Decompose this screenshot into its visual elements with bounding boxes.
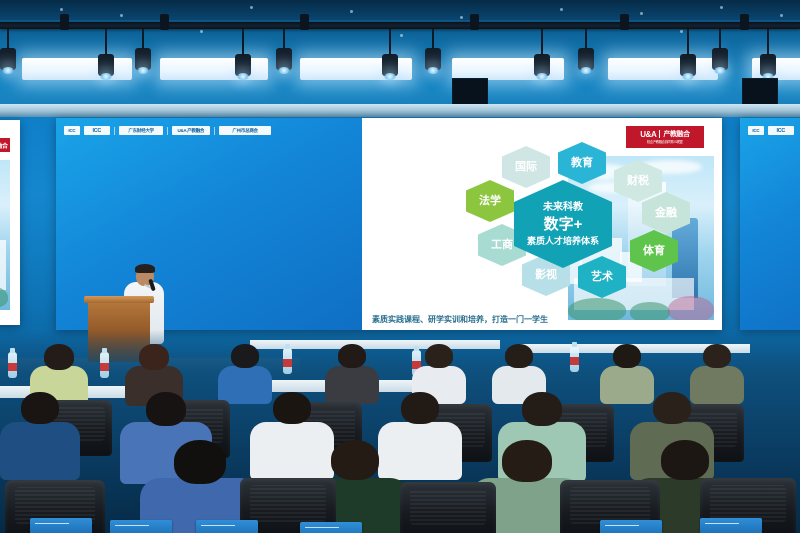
audience-body-r2-6 — [0, 422, 80, 480]
audience-body-r1-8 — [690, 366, 744, 404]
ceiling-speck-1 — [60, 8, 63, 11]
chamber-logo: 广州市总商会 — [219, 126, 271, 135]
audience-head-r1-3 — [231, 344, 259, 368]
audience-head-r2-2 — [273, 392, 311, 424]
bottle-label — [570, 357, 579, 365]
audience-head-r3-3 — [502, 440, 552, 482]
ceiling-dark-band — [0, 0, 800, 20]
light-drop-10 — [687, 29, 689, 55]
hex-node-label: 金融 — [655, 207, 677, 220]
logo-divider — [114, 127, 115, 135]
conference-folder-6[interactable] — [700, 518, 762, 533]
center-line-1: 未来科教 — [543, 201, 583, 215]
slide-body-text: 素质实践课程、研学实训和培养，打造一门一学生 — [372, 314, 548, 325]
presenter-hair — [135, 264, 155, 273]
hex-node-label: 工商 — [491, 239, 513, 252]
ceiling-speck-7 — [640, 12, 643, 15]
spotlight-1 — [0, 48, 16, 70]
water-bottle-1 — [8, 352, 17, 378]
panel-light-5 — [608, 58, 718, 80]
light-drop-5 — [283, 29, 285, 49]
truss-joint-6 — [740, 14, 749, 30]
light-drop-11 — [719, 29, 721, 49]
spotlight-3 — [135, 48, 151, 70]
audience-body-r1-4 — [325, 366, 379, 404]
audience-head-r1-7 — [613, 344, 641, 368]
hex-node-label: 艺术 — [591, 271, 613, 284]
light-drop-6 — [389, 29, 391, 55]
audience-head-r2-3 — [401, 392, 439, 424]
partner-logo-bar-right: ICC ICC — [748, 126, 794, 135]
center-line-3: 素质人才培养体系 — [527, 235, 599, 247]
audience-body-r1-3 — [218, 366, 272, 404]
audience-body-r1-7 — [600, 366, 654, 404]
audience-head-r2-5 — [653, 392, 691, 424]
ceiling-speck-9 — [780, 14, 783, 17]
truss-joint-5 — [620, 14, 629, 30]
conference-hall-photo: U&A 产教融合 ICC ICC — [0, 0, 800, 533]
center-line-2: 数字+ — [544, 215, 583, 235]
audience-head-r2-6 — [21, 392, 59, 424]
truss-joint-2 — [160, 14, 169, 30]
bottle-label — [100, 363, 109, 371]
icc-logo: ICC — [84, 126, 110, 135]
ceiling-speck-11 — [400, 34, 403, 37]
water-bottle-5 — [570, 346, 579, 372]
ceiling-speck-4 — [350, 10, 353, 13]
partner-logo-bar: ICC ICC 广东财经大学 U&A 产教融合 广州市总商会 — [64, 126, 271, 135]
ceiling-speck-6 — [560, 8, 563, 11]
audience-head-r1-5 — [425, 344, 453, 368]
audience-head-r3-1 — [174, 440, 226, 484]
light-drop-3 — [142, 29, 144, 49]
conference-folder-1[interactable] — [30, 518, 92, 533]
light-drop-9 — [585, 29, 587, 49]
audience-head-r3-2 — [331, 440, 379, 480]
light-drop-7 — [432, 29, 434, 49]
light-drop-1 — [7, 29, 9, 49]
chair-r3-3[interactable] — [400, 482, 496, 533]
water-bottle-3 — [283, 348, 292, 374]
logo-divider-2 — [167, 127, 168, 135]
logo-divider-3 — [214, 127, 215, 135]
spotlight-7 — [425, 48, 441, 70]
audience-head-r1-2 — [139, 344, 169, 370]
hex-node-label: 教育 — [571, 157, 593, 170]
podium-top — [84, 296, 154, 303]
ua-logo: U&A 产教融合 — [172, 126, 210, 135]
building-photo-left-screen — [0, 160, 10, 310]
right-side-screen[interactable]: ICC ICC 书记校长 暨 "U10 星 广东 《U10联盟 — [740, 118, 800, 330]
ceiling-speck-8 — [720, 6, 723, 9]
truss-joint-4 — [470, 14, 479, 30]
panel-light-2 — [160, 58, 268, 80]
light-drop-2 — [105, 29, 107, 55]
ceiling-speck-12 — [680, 30, 683, 33]
spotlight-2 — [98, 54, 114, 76]
ceiling-soffit — [0, 104, 800, 117]
university-logo: 广东财经大学 — [119, 126, 163, 135]
lighting-truss — [0, 22, 800, 29]
spotlight-9 — [578, 48, 594, 70]
bottle-label — [283, 359, 292, 367]
hex-node-label: 国际 — [515, 161, 537, 174]
hex-node-label: 体育 — [643, 245, 665, 258]
ceiling-speck-5 — [460, 16, 463, 19]
audience-head-r2-4 — [522, 392, 562, 426]
spotlight-8 — [534, 54, 550, 76]
hex-node-label: 财税 — [627, 175, 649, 188]
audience-area — [0, 330, 800, 533]
ceiling-speck-2 — [120, 14, 123, 17]
audience-head-r2-1 — [146, 392, 186, 426]
hex-node-label: 法学 — [479, 195, 501, 208]
audience-head-r1-4 — [338, 344, 366, 368]
ceiling-speck-10 — [200, 30, 203, 33]
spotlight-12 — [760, 54, 776, 76]
panel-light-1 — [22, 58, 132, 80]
ua-red-badge: U&A 产教融合 校企产教融合协同育人联盟 — [626, 126, 704, 148]
spotlight-11 — [712, 48, 728, 70]
ceiling-speck-3 — [250, 6, 253, 9]
light-drop-4 — [242, 29, 244, 55]
audience-head-r1-6 — [505, 344, 533, 368]
left-side-screen[interactable]: U&A 产教融合 — [0, 120, 20, 325]
audience-head-r1-1 — [44, 344, 74, 370]
light-drop-8 — [541, 29, 543, 55]
audience-body-r2-2 — [250, 422, 334, 480]
conference-folder-2[interactable] — [110, 520, 172, 533]
conference-folder-5[interactable] — [600, 520, 662, 533]
hex-node-label: 影视 — [535, 269, 557, 282]
spotlight-5 — [276, 48, 292, 70]
spotlight-4 — [235, 54, 251, 76]
audience-head-r1-8 — [703, 344, 731, 368]
spotlight-6 — [382, 54, 398, 76]
ua-badge-left-screen: U&A 产教融合 — [0, 138, 10, 152]
audience-head-r3-4 — [661, 440, 709, 480]
bottle-label — [8, 363, 17, 371]
truss-joint-3 — [300, 14, 309, 30]
water-bottle-2 — [100, 352, 109, 378]
spotlight-10 — [680, 54, 696, 76]
conference-folder-4[interactable] — [300, 522, 362, 533]
conference-folder-3[interactable] — [196, 520, 258, 533]
audience-body-r2-3 — [378, 422, 462, 480]
ceiling — [0, 0, 800, 120]
icc-mark: ICC — [64, 126, 80, 135]
truss-joint-1 — [60, 14, 69, 30]
light-drop-12 — [767, 29, 769, 55]
